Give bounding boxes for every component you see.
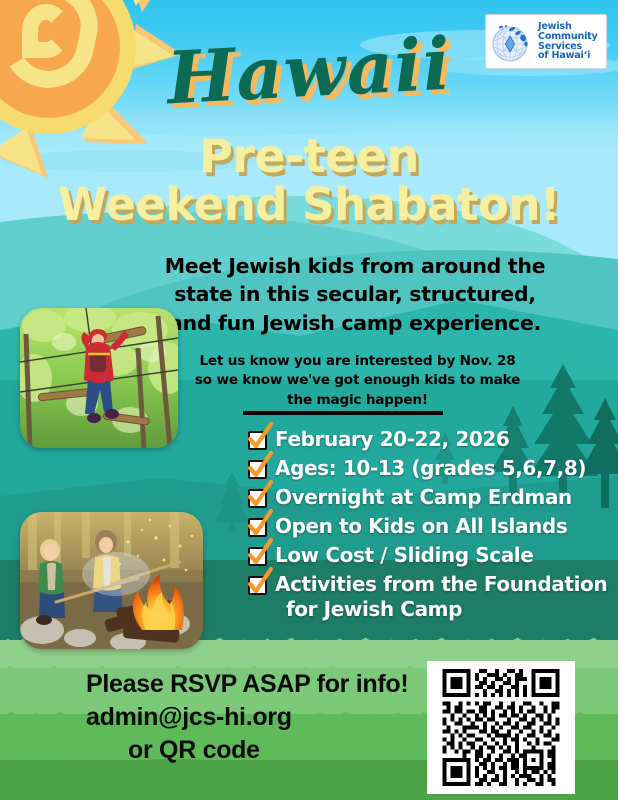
checklist-item-label: Open to Kids on All Islands [275,515,610,536]
checklist-item[interactable]: February 20-22, 2026 [248,428,610,450]
qr-code[interactable] [427,661,575,794]
section-divider [243,411,443,415]
rsvp-headline: Please RSVP ASAP for info! [86,668,426,701]
flyer-canvas: Jewish Community Services of Hawaiʻi Haw… [0,0,618,800]
photo-campfire [20,512,203,649]
checklist-item-label-continued: for Jewish Camp [275,599,610,619]
rsvp-qr-note: or QR code [86,734,426,767]
checkbox-checked-icon[interactable] [248,518,267,537]
checkbox-checked-icon[interactable] [248,547,267,566]
page-title-line-1: Pre-teen [0,132,618,181]
checklist-item[interactable]: Activities from the Foundation for Jewis… [248,573,610,619]
checklist-item[interactable]: Overnight at Camp Erdman [248,486,610,508]
photo-ropes-course [20,308,178,448]
checklist-item[interactable]: Ages: 10-13 (grades 5,6,7,8) [248,457,610,479]
details-checklist: February 20-22, 2026 Ages: 10-13 (grades… [248,428,610,626]
checkbox-checked-icon[interactable] [248,489,267,508]
page-title-line-2: Weekend Shabaton! [0,181,618,229]
deadline-note: Let us know you are interested by Nov. 2… [190,352,525,410]
checklist-item-label-main: Activities from the Foundation [275,572,607,596]
checkbox-checked-icon[interactable] [248,576,267,595]
checklist-item-label: Ages: 10-13 (grades 5,6,7,8) [275,457,610,478]
checklist-item-label: Overnight at Camp Erdman [275,486,610,507]
pine-tree-icon-4 [212,470,252,532]
rsvp-email[interactable]: admin@jcs-hi.org [86,701,426,734]
checklist-item[interactable]: Open to Kids on All Islands [248,515,610,537]
checkbox-checked-icon[interactable] [248,460,267,479]
page-title: Pre-teen Weekend Shabaton! [0,132,618,228]
checklist-item-label: Activities from the Foundation for Jewis… [275,573,610,619]
checklist-item-label: February 20-22, 2026 [275,428,610,449]
rsvp-block: Please RSVP ASAP for info! admin@jcs-hi.… [86,668,426,767]
checkbox-checked-icon[interactable] [248,431,267,450]
checklist-item[interactable]: Low Cost / Sliding Scale [248,544,610,566]
checklist-item-label: Low Cost / Sliding Scale [275,544,610,565]
intro-paragraph: Meet Jewish kids from around the state i… [150,252,560,337]
